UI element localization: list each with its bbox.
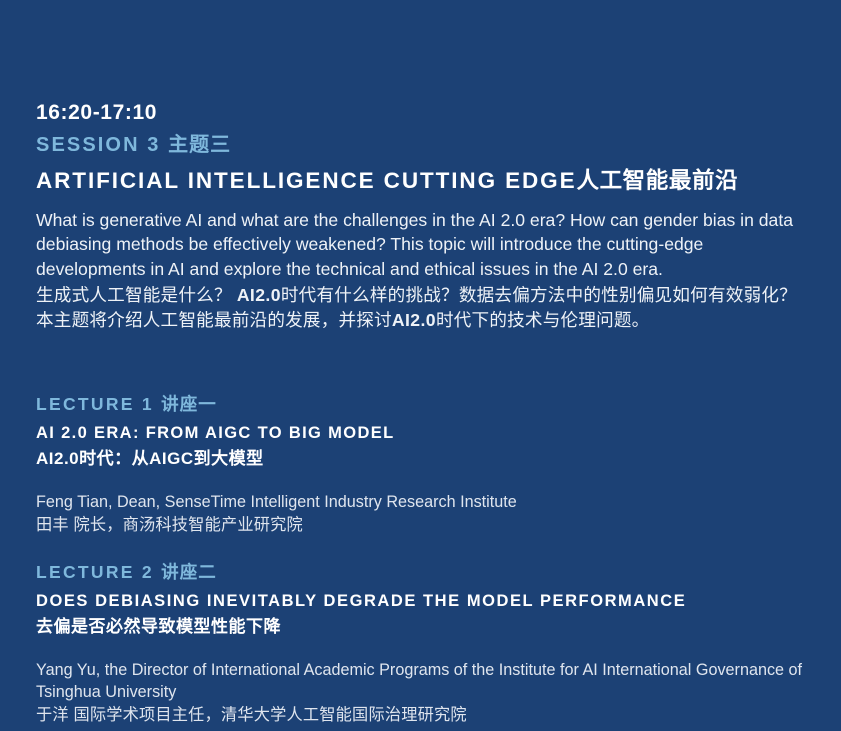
lecture-1-label-en: LECTURE 1 [36,394,161,414]
lecture-2-speaker-en: Yang Yu, the Director of International A… [36,659,811,704]
lecture-2-speaker-zh: 于洋 国际学术项目主任，清华大学人工智能国际治理研究院 [36,704,811,726]
session-label-zh: 主题三 [168,134,231,156]
session-label: SESSION 3 主题三 [36,133,811,158]
session-title-en: ARTIFICIAL INTELLIGENCE CUTTING EDGE [36,168,576,193]
lecture-2-title-en: DOES DEBIASING INEVITABLY DEGRADE THE MO… [36,591,811,613]
lecture-1-label: LECTURE 1 讲座一 [36,394,811,416]
session-label-en: SESSION 3 [36,134,168,156]
lecture-2-label: LECTURE 2 讲座二 [36,562,811,584]
session-description-zh-part3: 时代下的技术与伦理问题。 [436,310,650,330]
lecture-1-title-en: AI 2.0 ERA: FROM AIGC TO BIG MODEL [36,423,811,445]
lecture-2-label-zh: 讲座二 [161,562,217,582]
lecture-1-title-zh: AI2.0时代：从AIGC到大模型 [36,448,811,471]
session-description-zh-part1: 生成式人工智能是什么？ [36,285,237,305]
session-description-zh: 生成式人工智能是什么？ AI2.0时代有什么样的挑战？数据去偏方法中的性别偏见如… [36,283,811,333]
lecture-1-speaker-en: Feng Tian, Dean, SenseTime Intelligent I… [36,491,811,513]
session-title: ARTIFICIAL INTELLIGENCE CUTTING EDGE人工智能… [36,166,811,195]
lecture-2-label-en: LECTURE 2 [36,562,161,582]
lecture-item-1: LECTURE 1 讲座一 AI 2.0 ERA: FROM AIGC TO B… [36,394,811,536]
session-title-zh: 人工智能最前沿 [576,168,738,193]
agenda-slide: 16:20-17:10 SESSION 3 主题三 ARTIFICIAL INT… [0,0,841,731]
lecture-1-label-zh: 讲座一 [161,394,217,414]
session-block: 16:20-17:10 SESSION 3 主题三 ARTIFICIAL INT… [36,100,811,333]
session-description-zh-bold1: AI2.0 [237,285,281,305]
session-time: 16:20-17:10 [36,100,811,126]
session-description-zh-bold2: AI2.0 [392,310,436,330]
lecture-1-speaker-zh: 田丰 院长，商汤科技智能产业研究院 [36,514,811,536]
lecture-item-2: LECTURE 2 讲座二 DOES DEBIASING INEVITABLY … [36,562,811,727]
session-description-en: What is generative AI and what are the c… [36,208,811,283]
lecture-2-title-zh: 去偏是否必然导致模型性能下降 [36,616,811,639]
